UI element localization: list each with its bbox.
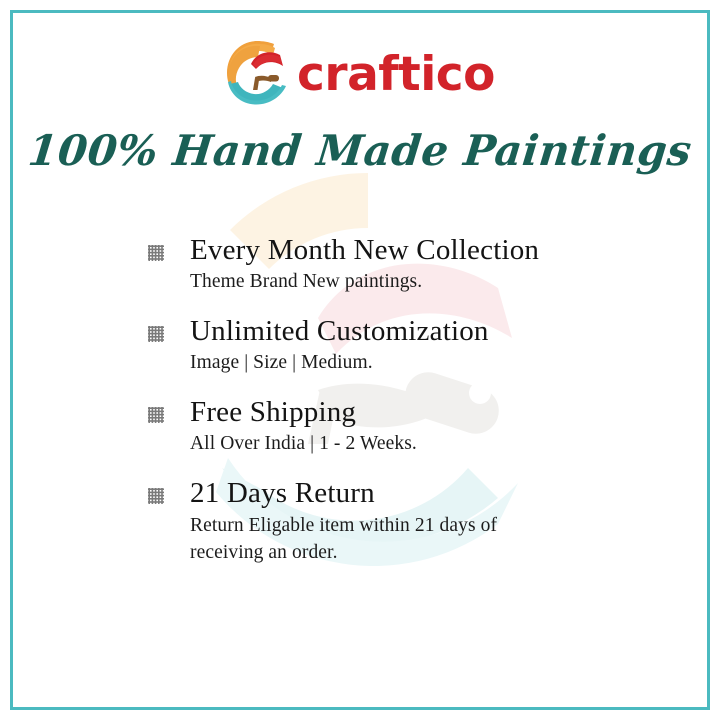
list-item: Unlimited Customization Image | Size | M… bbox=[146, 314, 616, 377]
brand-wordmark: craftico bbox=[297, 51, 495, 98]
list-item: Every Month New Collection Theme Brand N… bbox=[146, 233, 616, 296]
feature-subtitle: Theme Brand New paintings. bbox=[190, 269, 570, 296]
feature-title: 21 Days Return bbox=[190, 476, 616, 510]
woven-mesh-square-icon bbox=[146, 243, 166, 263]
feature-subtitle: Image | Size | Medium. bbox=[190, 350, 570, 377]
feature-subtitle: Return Eligable item within 21 days of r… bbox=[190, 513, 570, 567]
list-item: 21 Days Return Return Eligable item with… bbox=[146, 476, 616, 566]
promo-banner: craftico 100% Hand Made Paintings Every … bbox=[0, 0, 720, 720]
feature-title: Unlimited Customization bbox=[190, 314, 616, 348]
feature-subtitle: All Over India | 1 - 2 Weeks. bbox=[190, 431, 570, 458]
brand-logo: craftico bbox=[0, 36, 720, 108]
list-item: Free Shipping All Over India | 1 - 2 Wee… bbox=[146, 395, 616, 458]
woven-mesh-square-icon bbox=[146, 405, 166, 425]
feature-title: Free Shipping bbox=[190, 395, 616, 429]
woven-mesh-square-icon bbox=[146, 486, 166, 506]
craftico-logo-icon bbox=[225, 38, 289, 106]
woven-mesh-square-icon bbox=[146, 324, 166, 344]
feature-title: Every Month New Collection bbox=[190, 233, 616, 267]
feature-list: Every Month New Collection Theme Brand N… bbox=[146, 233, 616, 566]
page-title: 100% Hand Made Paintings bbox=[0, 126, 720, 175]
